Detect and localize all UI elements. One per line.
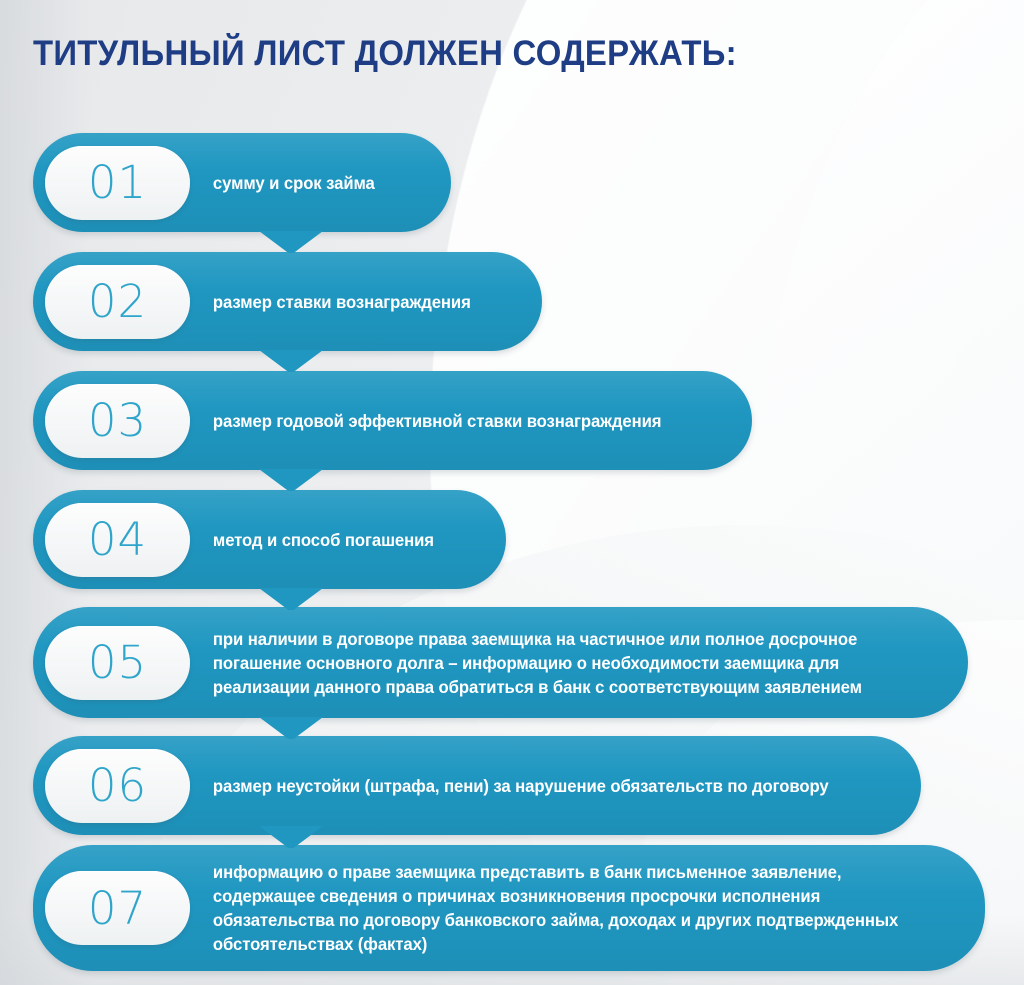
list-item[interactable]: 05 при наличии в договоре права заемщика… xyxy=(33,607,968,718)
step-number: 06 xyxy=(88,763,147,808)
chevron-down-icon xyxy=(259,350,323,372)
step-text: размер неустойки (штрафа, пени) за наруш… xyxy=(190,774,855,798)
step-text: размер ставки вознаграждения xyxy=(190,290,498,314)
step-number: 03 xyxy=(88,398,147,443)
step-text-line: обстоятельствах (фактах) xyxy=(213,932,898,956)
step-number: 07 xyxy=(88,886,147,931)
step-number: 04 xyxy=(88,517,147,562)
step-text-line: реализации данного права обратиться в ба… xyxy=(213,675,862,699)
step-number-badge: 06 xyxy=(45,749,190,823)
step-number: 02 xyxy=(88,279,147,324)
step-number-badge: 05 xyxy=(45,626,190,700)
step-text-line: содержащее сведения о причинах возникнов… xyxy=(213,884,898,908)
step-text-line: обязательства по договору банковского за… xyxy=(213,908,898,932)
step-number: 01 xyxy=(88,160,147,205)
step-text: размер годовой эффективной ставки вознаг… xyxy=(190,409,688,433)
step-number-badge: 02 xyxy=(45,265,190,339)
list-item[interactable]: 07 информацию о праве заемщика представи… xyxy=(33,845,985,971)
step-text-line: сумму и срок займа xyxy=(213,171,375,195)
chevron-down-icon xyxy=(259,469,323,491)
list-item[interactable]: 04 метод и способ погашения xyxy=(33,490,506,589)
infographic-page: ТИТУЛЬНЫЙ ЛИСТ ДОЛЖЕН СОДЕРЖАТЬ: 01 сумм… xyxy=(0,0,1024,985)
step-text-line: при наличии в договоре права заемщика на… xyxy=(213,627,862,651)
list-item[interactable]: 01 сумму и срок займа xyxy=(33,133,451,232)
step-text-line: информацию о праве заемщика представить … xyxy=(213,860,898,884)
step-number-badge: 07 xyxy=(45,871,190,945)
step-text: сумму и срок займа xyxy=(190,171,401,195)
step-text-line: размер годовой эффективной ставки вознаг… xyxy=(213,409,662,433)
list-item[interactable]: 06 размер неустойки (штрафа, пени) за на… xyxy=(33,736,921,835)
step-text-line: метод и способ погашения xyxy=(213,528,434,552)
step-number-badge: 04 xyxy=(45,503,190,577)
chevron-down-icon xyxy=(259,231,323,253)
step-text: при наличии в договоре права заемщика на… xyxy=(190,627,889,699)
step-text-line: погашение основного долга – информацию о… xyxy=(213,651,862,675)
list-item[interactable]: 03 размер годовой эффективной ставки воз… xyxy=(33,371,752,470)
step-text: метод и способ погашения xyxy=(190,528,461,552)
requirements-list: 01 сумму и срок займа 02 размер ставки в… xyxy=(0,0,1024,985)
step-text-line: размер неустойки (штрафа, пени) за наруш… xyxy=(213,774,829,798)
step-text-line: размер ставки вознаграждения xyxy=(213,290,471,314)
step-text: информацию о праве заемщика представить … xyxy=(190,860,925,956)
step-number-badge: 01 xyxy=(45,146,190,220)
step-number: 05 xyxy=(88,640,147,685)
list-item[interactable]: 02 размер ставки вознаграждения xyxy=(33,252,542,351)
step-number-badge: 03 xyxy=(45,384,190,458)
